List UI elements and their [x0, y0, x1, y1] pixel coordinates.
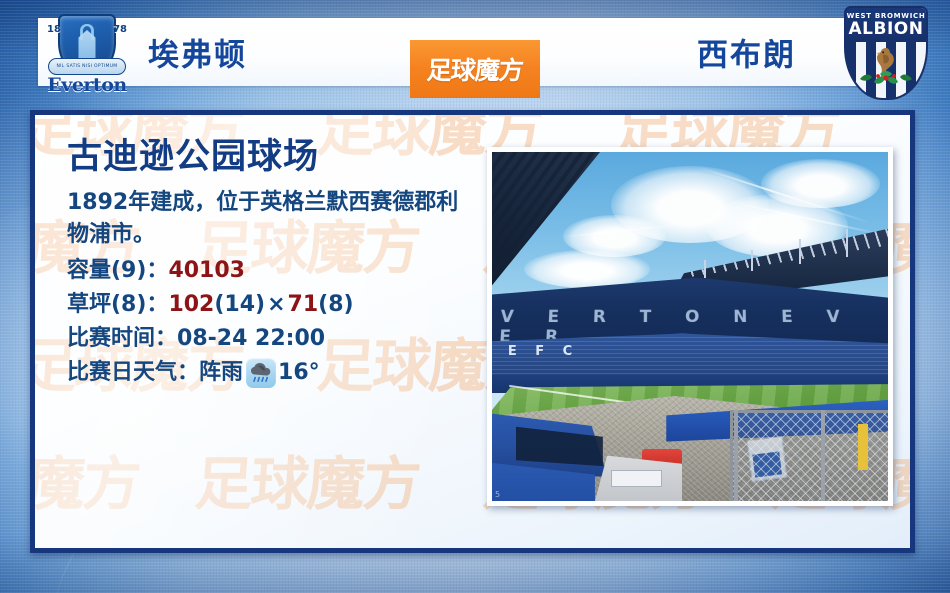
photo-fence-post [821, 410, 825, 501]
weather-separator: ： [177, 356, 199, 390]
pitch-row: 草坪(8) ： 102 (14) × 71 (8) [67, 288, 487, 322]
pitch-length-rank: (14) [214, 288, 265, 322]
kickoff-value: 08-24 22:00 [177, 322, 325, 356]
kickoff-row: 比赛时间 ： 08-24 22:00 [67, 322, 487, 356]
goodison-park-photo: V E R T O N E V E R E F C [492, 152, 888, 501]
stadium-title: 古迪逊公园球场 [67, 137, 487, 177]
kickoff-separator: ： [155, 322, 177, 356]
weather-label: 比赛日天气 [67, 356, 177, 390]
photo-floodlight-mast [799, 239, 801, 263]
everton-motto-ribbon: NIL SATIS NISI OPTIMUM [48, 58, 126, 75]
stadium-description: 1892年建成，位于英格兰默西赛德郡利物浦市。 [67, 187, 467, 251]
everton-wordmark: Everton [44, 74, 130, 96]
photo-yellow-marker [858, 424, 868, 469]
wba-nameplate: WEST BROMWICH ALBION [846, 8, 926, 42]
capacity-value: 40103 [168, 254, 245, 288]
pitch-times-symbol: × [265, 288, 287, 322]
pitch-length: 102 [168, 288, 214, 322]
photo-cloud [524, 250, 651, 288]
hawthorn-branch-icon [856, 67, 916, 87]
photo-floodlight-mast [704, 260, 706, 277]
pitch-width: 71 [288, 288, 319, 322]
stadium-info-block: 古迪逊公园球场 1892年建成，位于英格兰默西赛德郡利物浦市。 容量(9) ： … [67, 137, 487, 390]
photo-efc-seats-text: E F C [508, 344, 579, 359]
kickoff-label: 比赛时间 [67, 322, 155, 356]
capacity-label: 容量(9) [67, 254, 146, 288]
capacity-separator: ： [146, 254, 168, 288]
weather-condition: 阵雨 [199, 356, 243, 390]
weather-row: 比赛日天气 ： 阵雨 16° [67, 356, 487, 390]
capacity-row: 容量(9) ： 40103 [67, 254, 487, 288]
weather-temperature: 16° [278, 356, 320, 390]
site-logo-text: 足球魔方 [426, 51, 525, 87]
stadium-photo-frame: V E R T O N E V E R E F C [487, 147, 893, 506]
rain-cloud-icon [246, 358, 276, 388]
wba-shield-icon: WEST BROMWICH ALBION [844, 6, 928, 100]
pitch-separator: ： [146, 288, 168, 322]
everton-year-left: 18 [47, 24, 61, 35]
screenshot-stage: 埃弗顿 西布朗 足球魔方 18 78 NIL SATIS NISI OPTIMU… [0, 0, 950, 593]
wba-line2: ALBION [849, 21, 924, 38]
home-team-name: 埃弗顿 [148, 30, 247, 75]
everton-year-right: 78 [113, 24, 127, 35]
photo-cloud [761, 159, 880, 208]
away-team-name: 西布朗 [697, 30, 796, 75]
photo-corner-mark: 5 [495, 490, 500, 499]
pitch-label: 草坪(8) [67, 288, 146, 322]
photo-floodlight-mast [846, 229, 848, 257]
home-team-crest-icon: 18 78 NIL SATIS NISI OPTIMUM Everton [44, 4, 130, 102]
match-header-bar: 埃弗顿 西布朗 足球魔方 [38, 18, 912, 86]
photo-floodlight-mast [751, 250, 753, 271]
photo-fence-post [734, 410, 738, 501]
site-logo[interactable]: 足球魔方 [410, 40, 540, 98]
stadium-info-card: 足球魔方 足球魔方 足球魔方 足球魔方 足球魔方 足球魔方 足球魔方 足球魔方 … [30, 110, 915, 553]
photo-notice-plate [611, 470, 662, 487]
away-team-crest-icon: WEST BROMWICH ALBION [844, 6, 928, 100]
pitch-width-rank: (8) [318, 288, 353, 322]
